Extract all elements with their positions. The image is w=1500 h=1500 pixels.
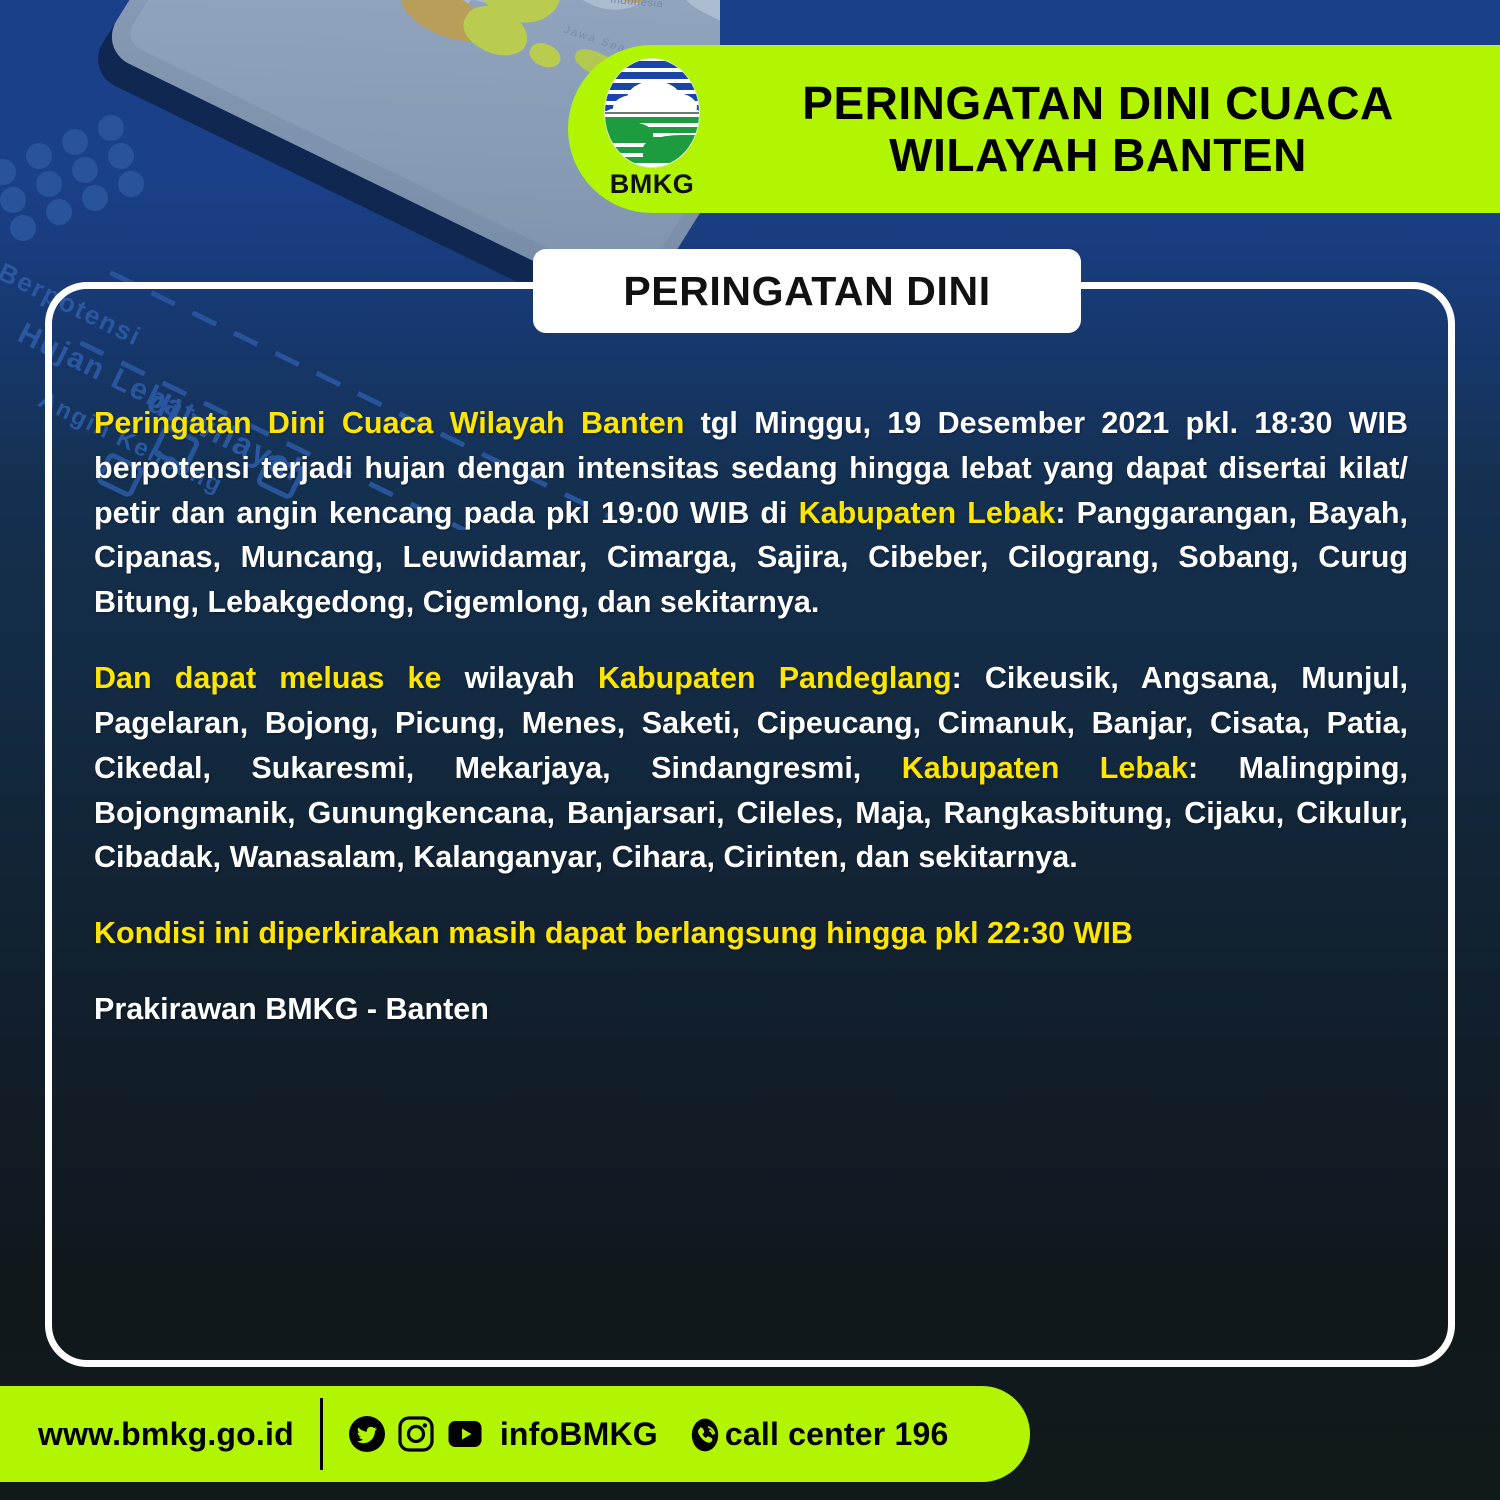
social-icons — [349, 1416, 483, 1452]
status-badge: PERINGATAN DINI — [533, 249, 1081, 333]
p2-highlight-meluas: Dan dapat meluas ke — [94, 661, 441, 695]
paragraph-2: Dan dapat meluas ke wilayah Kabupaten Pa… — [94, 656, 1408, 880]
footer-divider — [320, 1398, 323, 1470]
instagram-icon[interactable] — [398, 1416, 434, 1452]
footer-bar: www.bmkg.go.id infoBMKG — [0, 1386, 1030, 1482]
youtube-icon[interactable] — [447, 1416, 483, 1452]
paragraph-4: Prakirawan BMKG - Banten — [94, 987, 1408, 1032]
decorative-dot-grid — [0, 125, 150, 215]
warning-body: Peringatan Dini Cuaca Wilayah Banten tgl… — [94, 401, 1408, 1032]
page-title-line1: PERINGATAN DINI CUACA — [736, 77, 1460, 129]
paragraph-1: Peringatan Dini Cuaca Wilayah Banten tgl… — [94, 401, 1408, 625]
warning-card: PERINGATAN DINI Peringatan Dini Cuaca Wi… — [45, 282, 1455, 1367]
bmkg-logo-label: BMKG — [610, 169, 695, 200]
p2-highlight-kabupaten-lebak: Kabupaten Lebak — [902, 751, 1188, 785]
p2-text-1: wilayah — [441, 661, 598, 695]
p1-highlight-title: Peringatan Dini Cuaca Wilayah Banten — [94, 406, 684, 440]
social-handle[interactable]: infoBMKG — [500, 1416, 658, 1453]
bmkg-logo: BMKG — [594, 58, 710, 200]
page-title-line2: WILAYAH BANTEN — [736, 129, 1460, 181]
phone-icon — [686, 1416, 722, 1452]
call-center-label: call center 196 — [725, 1416, 949, 1453]
page-title: PERINGATAN DINI CUACA WILAYAH BANTEN — [736, 77, 1500, 182]
p2-highlight-kabupaten-pandeglang: Kabupaten Pandeglang — [598, 661, 952, 695]
p1-highlight-kabupaten-lebak: Kabupaten Lebak — [799, 496, 1056, 530]
bmkg-circle-logo-icon — [604, 58, 700, 168]
call-center[interactable]: call center 196 — [686, 1416, 949, 1453]
paragraph-3: Kondisi ini diperkirakan masih dapat ber… — [94, 911, 1408, 956]
twitter-icon[interactable] — [349, 1416, 385, 1452]
p3-highlight-durasi: Kondisi ini diperkirakan masih dapat ber… — [94, 916, 1133, 950]
header-banner: BMKG PERINGATAN DINI CUACA WILAYAH BANTE… — [568, 45, 1500, 213]
website-url[interactable]: www.bmkg.go.id — [0, 1416, 294, 1453]
